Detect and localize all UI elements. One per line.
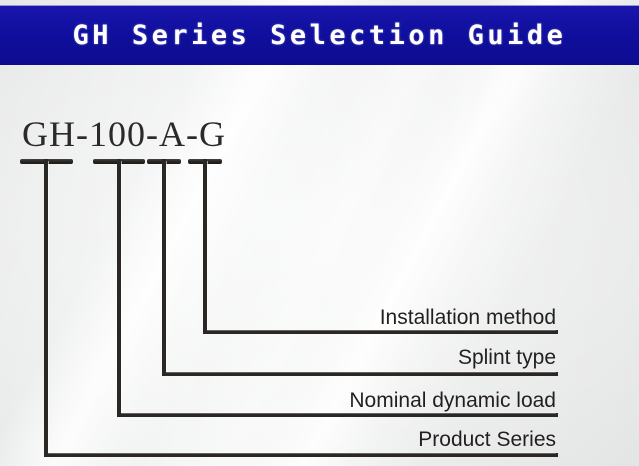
selection-guide-figure: GH Series Selection Guide GH-100-A-G bbox=[0, 0, 639, 466]
callout-label-nominal-dynamic-load: Nominal dynamic load bbox=[349, 389, 556, 413]
product-code-text: GH-100-A-G bbox=[22, 113, 226, 155]
callout-label-installation-method: Installation method bbox=[380, 306, 556, 330]
callout-label-product-series: Product Series bbox=[418, 428, 556, 452]
banner-title-text: GH Series Selection Guide bbox=[73, 20, 567, 51]
callout-label-splint-type: Splint type bbox=[458, 346, 556, 370]
title-banner: GH Series Selection Guide bbox=[0, 5, 639, 65]
